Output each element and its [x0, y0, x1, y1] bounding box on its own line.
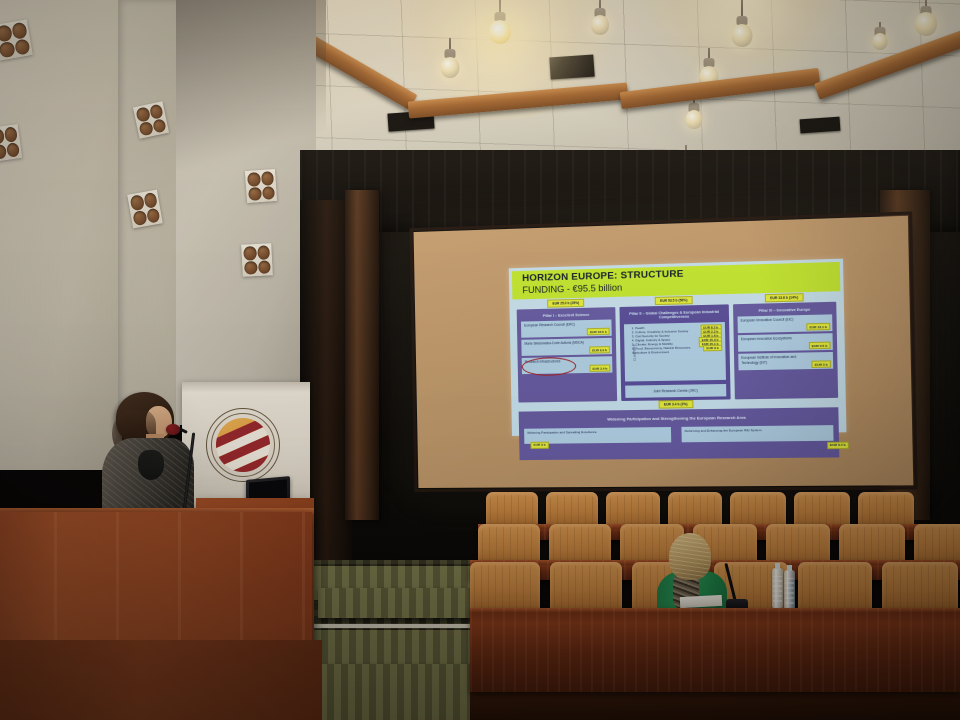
water-bottle[interactable] [772, 568, 783, 608]
auditorium-seat[interactable] [550, 562, 622, 612]
microphone-head-icon[interactable] [166, 424, 180, 435]
item-amount: EUR 3 b [812, 361, 832, 369]
cluster-item: 6. Food, Bioeconomy, Natural Resources, … [632, 345, 722, 355]
auditorium-seat[interactable] [794, 492, 850, 528]
pillar-3-item: European Innovation Ecosystems EUR 0.5 b [738, 334, 833, 353]
conference-hall-photo: HORIZON EUROPE: STRUCTURE FUNDING - €95.… [0, 0, 960, 720]
auditorium-seat[interactable] [882, 562, 958, 612]
pillar-1-item-highlighted: Research Infrastructures EUR 2.4 b [522, 357, 613, 375]
projection-screen: HORIZON EUROPE: STRUCTURE FUNDING - €95.… [414, 216, 914, 488]
pillar-1-item: European Research Council (ERC) EUR 16.0… [521, 320, 612, 338]
institutional-emblem-icon [206, 408, 280, 482]
auditorium-seat[interactable] [606, 492, 660, 528]
pillar-2-footer: Joint Research Centre (JRC) [625, 384, 726, 398]
item-name: European Innovation Ecosystems [741, 336, 805, 342]
item-amount: EUR 6.6 b [589, 347, 610, 355]
box-name: Widening Participation and Spreading Exc… [527, 429, 668, 435]
podium-base [0, 640, 322, 720]
item-amount: EUR 0.5 b [808, 342, 830, 350]
box-name: Reforming and Enhancing the European R&I… [685, 427, 830, 433]
item-name: Research Infrastructures [525, 359, 586, 364]
presenter-inner-top [138, 450, 164, 480]
emblem-globe [216, 418, 270, 472]
pillar-3-item: European Institute of Innovation and Tec… [738, 352, 833, 370]
notebook[interactable] [680, 595, 723, 608]
pillar-3-item: European Innovation Council (EIC) EUR 10… [737, 315, 832, 334]
seat-row-back [486, 492, 914, 528]
pillar-2-budget: EUR 53.5 b (56%) [655, 296, 693, 305]
wall-decor-panel [241, 243, 273, 277]
ceiling-vent [800, 117, 841, 134]
pillar-3-budget: EUR 13.6 b (14%) [765, 293, 804, 302]
stage-curtain-inner-left [345, 190, 379, 520]
widening-heading: Widening Participation and Strengthening… [524, 415, 833, 424]
widening-budget: EUR 3.4 b (3%) [659, 400, 693, 409]
box-amount: EUR 0.4 b [827, 441, 849, 449]
item-amount: EUR 2.4 b [589, 365, 610, 373]
cluster-name: 6. Food, Bioeconomy, Natural Resources, … [632, 346, 691, 355]
auditorium-seat[interactable] [798, 562, 872, 612]
podium-lectern [0, 512, 312, 652]
pillar-3: EUR 13.6 b (14%) Pillar III – Innovative… [733, 302, 838, 400]
auditorium-seat[interactable] [668, 492, 722, 528]
pillar-2: EUR 53.5 b (56%) Pillar II – Global Chal… [620, 304, 731, 401]
widening-box: Widening Participation and Spreading Exc… [524, 427, 671, 444]
wall-decor-panel [127, 190, 162, 229]
item-name: European Institute of Innovation and Tec… [741, 355, 805, 365]
attendee-hair [669, 533, 711, 580]
water-bottle[interactable] [784, 570, 795, 610]
front-floor [470, 690, 960, 720]
pillar-1-budget: EUR 25.0 b (25%) [547, 299, 584, 308]
pillar-2-clusters: CLUSTERS 1. HealthEUR 8.2 b 2. Culture, … [624, 322, 725, 382]
seat-desk-front [470, 608, 960, 692]
item-name: European Innovation Council (EIC) [740, 318, 804, 324]
slide-pillars: EUR 25.0 b (25%) Pillar I – Excellent Sc… [513, 302, 843, 403]
wall-decor-panel [245, 169, 277, 203]
box-amount: EUR 3 b [530, 441, 548, 448]
item-name: Marie Skłodowska-Curie Actions (MSCA) [524, 341, 585, 346]
presenter-speaker [98, 392, 194, 520]
auditorium-seat[interactable] [546, 492, 598, 528]
ceiling-vent [549, 54, 594, 79]
auditorium-seat[interactable] [730, 492, 786, 528]
item-amount: EUR 16.0 b [587, 328, 610, 336]
wall-decor-panel [133, 101, 169, 139]
cluster-amount: EUR 9 b [703, 345, 722, 352]
auditorium-seat[interactable] [858, 492, 914, 528]
widening-section: EUR 3.4 b (3%) Widening Participation an… [519, 407, 840, 460]
item-name: European Research Council (ERC) [524, 323, 585, 329]
presentation-slide: HORIZON EUROPE: STRUCTURE FUNDING - €95.… [509, 259, 847, 436]
auditorium-seat[interactable] [486, 492, 538, 528]
item-amount: EUR 10.1 b [806, 323, 830, 331]
widening-box: Reforming and Enhancing the European R&I… [681, 425, 833, 442]
pillar-1: EUR 25.0 b (25%) Pillar I – Excellent Sc… [517, 307, 618, 402]
pillar-1-item: Marie Skłodowska-Curie Actions (MSCA) EU… [521, 338, 612, 356]
auditorium-seat[interactable] [470, 562, 540, 612]
